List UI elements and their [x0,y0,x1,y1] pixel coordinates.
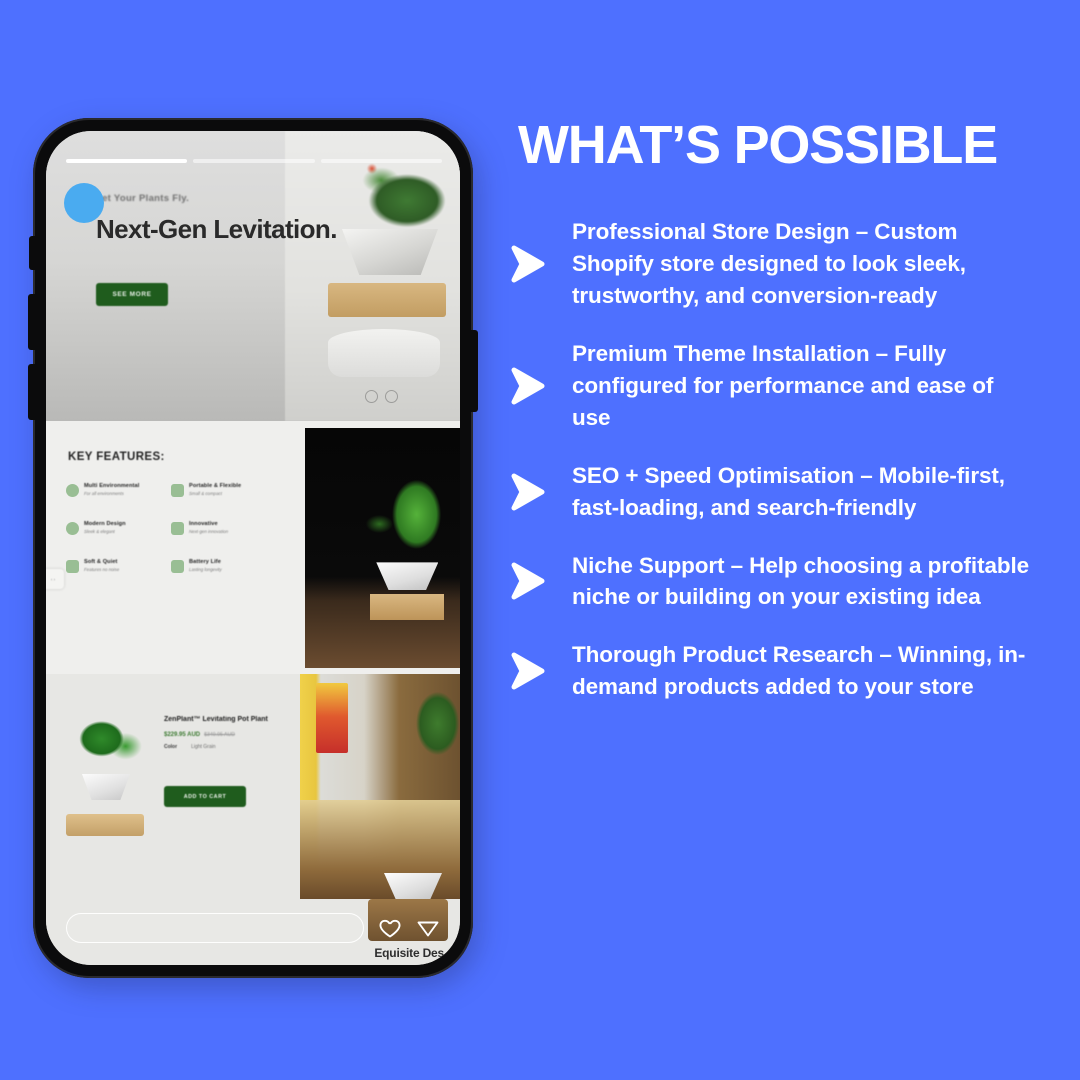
story-progress-segment [66,159,187,163]
pagination-dot[interactable] [365,390,378,403]
list-item: SEO + Speed Optimisation – Mobile-first,… [500,460,1065,524]
phone-volume-down-button[interactable] [28,364,35,420]
feature-subtitle: Sleek & elegant [84,529,126,534]
plant-leaves [68,714,148,776]
content-panel: WHAT’S POSSIBLE Professional Store Desig… [500,118,1065,998]
product-title: ZenPlant™ Levitating Pot Plant [164,716,299,725]
benefit-text: SEO + Speed Optimisation – Mobile-first,… [572,460,1032,524]
plant-base [66,814,144,836]
feature-title: Battery Life [189,559,222,565]
carousel-side-tab[interactable]: ‹ › [46,569,64,589]
pagination-dot[interactable] [385,390,398,403]
chevron-right-icon [500,236,556,292]
chevron-right-icon [500,643,556,699]
phone-volume-up-button[interactable] [28,294,35,350]
benefit-text: Premium Theme Installation – Fully confi… [572,338,1032,434]
chevron-right-icon [500,358,556,414]
benefit-text: Niche Support – Help choosing a profitab… [572,550,1032,614]
product-price: $229.95 AUD [164,732,200,738]
avatar[interactable] [64,183,104,223]
benefits-list: Professional Store Design – Custom Shopi… [500,216,1065,703]
hero-cta-button[interactable]: SEE MORE [96,283,168,306]
feature-item: Battery Life Lasting longevity [171,559,266,573]
add-to-cart-button[interactable]: ADD TO CART [164,786,246,807]
page-title: WHAT’S POSSIBLE [518,118,1065,172]
feature-item: Soft & Quiet Features no noise [66,559,161,573]
feature-subtitle: For all environments [84,491,139,496]
plant-pot [82,774,130,800]
phone-screen: Let Your Plants Fly. Next-Gen Levitation… [46,131,460,965]
hero-product-photo [285,131,460,421]
thumbs-up-icon [66,560,79,573]
story-reply-bar [46,913,460,943]
phone-mockup: Let Your Plants Fly. Next-Gen Levitation… [33,118,473,978]
feature-subtitle: Next-gen innovation [189,529,228,534]
feature-item: Portable & Flexible Small & compact [171,483,266,497]
product-option-row[interactable]: Color Light Grain [164,744,299,750]
feature-title: Innovative [189,521,228,527]
key-features-heading: KEY FEATURES: [68,451,165,463]
innovation-icon [171,522,184,535]
store-hero-section: Let Your Plants Fly. Next-Gen Levitation… [46,131,460,421]
portable-icon [171,484,184,497]
list-item: Thorough Product Research – Winning, in-… [500,639,1065,703]
feature-item: Innovative Next-gen innovation [171,521,266,535]
product-compare-at-price: $349.95 AUD [204,732,235,738]
story-progress-segment [321,159,442,163]
benefit-text: Professional Store Design – Custom Shopi… [572,216,1032,312]
story-progress-bars[interactable] [66,159,442,163]
heart-icon[interactable] [378,916,402,940]
feature-title: Multi Environmental [84,483,139,489]
story-caption: Equisite Des [374,946,444,960]
story-progress-segment [193,159,314,163]
feature-item: Modern Design Sleek & elegant [66,521,161,535]
feature-item: Multi Environmental For all environments [66,483,161,497]
battery-icon [171,560,184,573]
product-option-label: Color [164,744,177,750]
product-info: ZenPlant™ Levitating Pot Plant $229.95 A… [164,716,299,750]
design-icon [66,522,79,535]
chevron-right-icon [500,464,556,520]
list-item: Premium Theme Installation – Fully confi… [500,338,1065,434]
hero-levitation-base [328,329,440,377]
list-item: Niche Support – Help choosing a profitab… [500,550,1065,614]
feature-title: Soft & Quiet [84,559,119,565]
product-lifestyle-photo [300,674,460,899]
feature-subtitle: Features no noise [84,567,119,572]
hero-eyebrow: Let Your Plants Fly. [96,193,189,204]
feature-subtitle: Small & compact [189,491,241,496]
features-grid: Multi Environmental For all environments… [66,483,266,573]
product-price-row: $229.95 AUD $349.95 AUD [164,732,299,738]
phone-power-button[interactable] [471,330,478,412]
feature-title: Portable & Flexible [189,483,241,489]
globe-icon [66,484,79,497]
phone-mute-switch[interactable] [29,236,35,270]
story-viewer: Let Your Plants Fly. Next-Gen Levitation… [46,131,460,965]
benefit-text: Thorough Product Research – Winning, in-… [572,639,1032,703]
product-option-value[interactable]: Light Grain [191,744,215,750]
list-item: Professional Store Design – Custom Shopi… [500,216,1065,312]
comment-input[interactable] [66,913,364,943]
feature-subtitle: Lasting longevity [189,567,222,572]
hero-pagination[interactable] [365,390,398,403]
feature-title: Modern Design [84,521,126,527]
send-icon[interactable] [416,916,440,940]
product-thumbnail[interactable] [62,714,154,834]
features-product-photo [305,428,460,668]
chevron-right-icon [500,553,556,609]
hero-wood-shelf [328,283,446,317]
key-features-section: KEY FEATURES: Multi Environmental For al… [46,421,460,674]
hero-title: Next-Gen Levitation. [96,215,337,244]
features-wood-base [370,594,444,620]
